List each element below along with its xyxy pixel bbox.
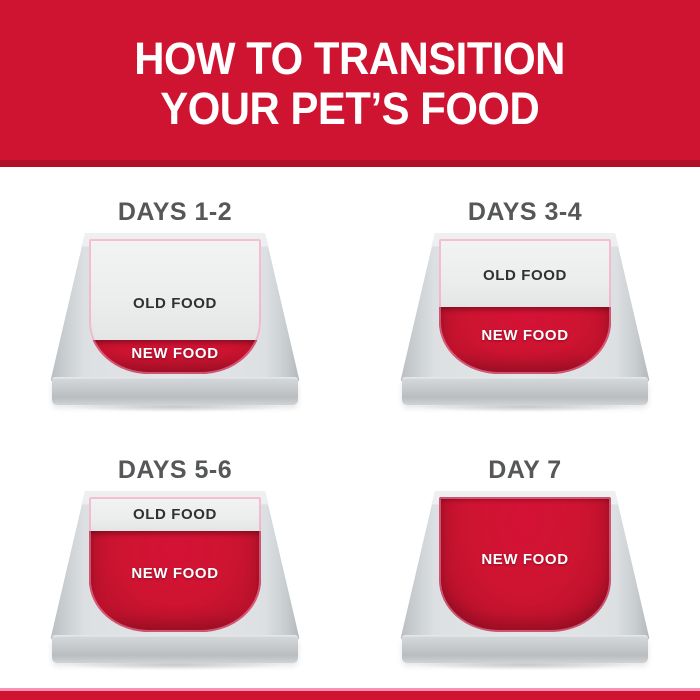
bowl-foot	[52, 637, 298, 663]
panel-days-3-4: DAYS 3-4 OLD FOOD NEW FOOD	[350, 171, 700, 431]
old-food-label: OLD FOOD	[89, 506, 261, 523]
bowl-illustration: OLD FOOD NEW FOOD	[400, 233, 650, 405]
bowl-foot	[52, 379, 298, 405]
header-underline	[0, 160, 700, 167]
new-food-label: NEW FOOD	[89, 565, 261, 582]
page-title-line-1: HOW TO TRANSITION	[135, 35, 566, 83]
panel-grid: DAYS 1-2 OLD FOOD NEW FOOD	[0, 167, 700, 688]
new-food-label: NEW FOOD	[439, 551, 611, 568]
panel-day-7: DAY 7 NEW FOOD	[350, 429, 700, 689]
bowl-cavity: NEW FOOD	[439, 497, 611, 632]
old-food-fill: OLD FOOD	[439, 239, 611, 307]
new-food-fill: NEW FOOD	[439, 497, 611, 632]
old-food-fill: OLD FOOD	[89, 497, 261, 531]
bowl-illustration: OLD FOOD NEW FOOD	[50, 233, 300, 405]
panel-days-1-2: DAYS 1-2 OLD FOOD NEW FOOD	[0, 171, 350, 431]
new-food-fill: NEW FOOD	[89, 531, 261, 632]
panel-title: DAYS 1-2	[0, 198, 350, 227]
panel-days-5-6: DAYS 5-6 OLD FOOD NEW FOOD	[0, 429, 350, 689]
infographic-page: HOW TO TRANSITION YOUR PET’S FOOD DAYS 1…	[0, 0, 700, 700]
panel-title: DAYS 3-4	[350, 198, 700, 227]
old-food-fill: OLD FOOD	[89, 239, 261, 340]
bowl-illustration: OLD FOOD NEW FOOD	[50, 491, 300, 663]
old-food-label: OLD FOOD	[439, 267, 611, 284]
old-food-label: OLD FOOD	[89, 295, 261, 312]
panel-title: DAY 7	[350, 456, 700, 485]
header-banner: HOW TO TRANSITION YOUR PET’S FOOD	[0, 0, 700, 167]
bowl-cavity: OLD FOOD NEW FOOD	[439, 239, 611, 374]
bowl-foot	[402, 379, 648, 405]
bottom-border-highlight	[0, 688, 700, 691]
bowl-cavity: OLD FOOD NEW FOOD	[89, 239, 261, 374]
page-title-line-2: YOUR PET’S FOOD	[160, 85, 539, 133]
panel-title: DAYS 5-6	[0, 456, 350, 485]
new-food-label: NEW FOOD	[89, 345, 261, 362]
new-food-fill: NEW FOOD	[89, 340, 261, 374]
new-food-label: NEW FOOD	[439, 327, 611, 344]
bowl-illustration: NEW FOOD	[400, 491, 650, 663]
bowl-cavity: OLD FOOD NEW FOOD	[89, 497, 261, 632]
bowl-foot	[402, 637, 648, 663]
new-food-fill: NEW FOOD	[439, 307, 611, 375]
